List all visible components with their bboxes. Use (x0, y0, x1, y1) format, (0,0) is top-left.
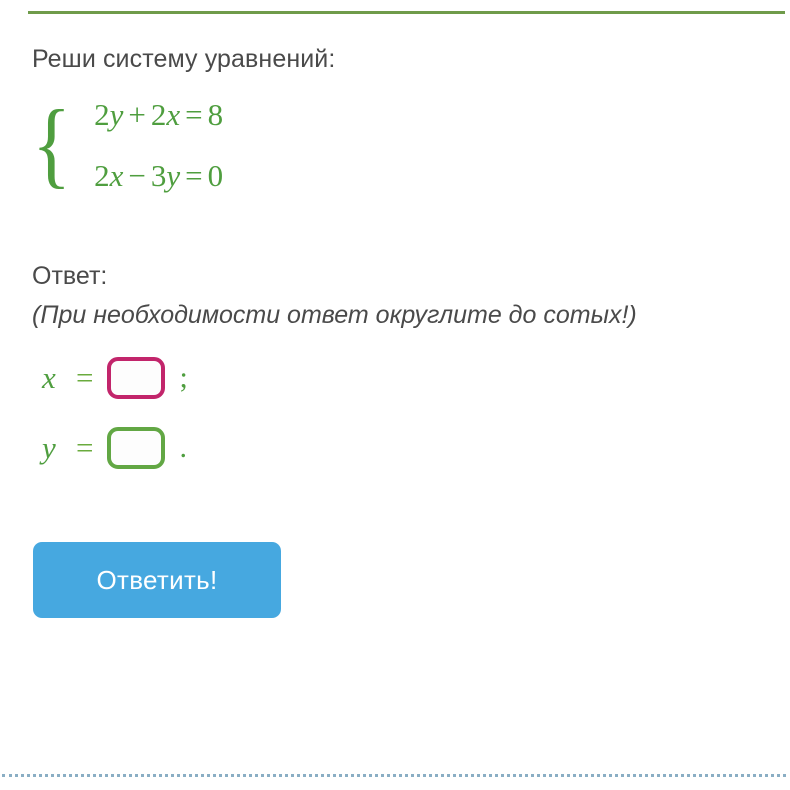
eq2-coef-1: 2 (94, 158, 110, 193)
eq1-coef-2: 2 (151, 97, 167, 132)
answer-equals-y: = (76, 430, 93, 466)
equation-system: { 2y+2x=8 2x−3y=0 (32, 85, 762, 206)
system-brace: { (32, 83, 71, 204)
answer-equals-x: = (76, 360, 93, 396)
answer-section: Ответ: (При необходимости ответ округлит… (32, 260, 762, 472)
eq2-coef-2: 3 (151, 158, 167, 193)
eq2-constant: 0 (208, 158, 224, 193)
answer-row-y: y = . (32, 424, 762, 472)
eq2-operator-minus: − (123, 158, 150, 193)
eq2-var-x: x (110, 158, 124, 193)
answer-input-x[interactable] (107, 357, 165, 399)
eq1-coef-1: 2 (94, 97, 110, 132)
answer-row-x: x = ; (32, 354, 762, 402)
answer-variable-y: y (42, 430, 68, 466)
answer-rounding-note: (При необходимости ответ округлите до со… (32, 299, 762, 333)
eq1-var-x: x (166, 97, 180, 132)
answer-variable-x: x (42, 360, 68, 396)
answer-punctuation-y: . (179, 431, 187, 465)
equation-lines: 2y+2x=8 2x−3y=0 (82, 85, 223, 206)
bottom-divider (2, 774, 786, 777)
eq1-var-y: y (110, 97, 124, 132)
exercise-content: Реши систему уравнений: { 2y+2x=8 2x−3y=… (32, 44, 762, 618)
answer-input-y[interactable] (107, 427, 165, 469)
eq1-operator-equals: = (180, 97, 207, 132)
answer-label: Ответ: (32, 260, 762, 293)
eq2-var-y: y (166, 158, 180, 193)
submit-area: Ответить! (33, 542, 762, 618)
equation-line-1: 2y+2x=8 (94, 85, 223, 145)
eq1-constant: 8 (208, 97, 224, 132)
page-title: Реши систему уравнений: (32, 44, 762, 75)
eq1-operator-plus: + (123, 97, 150, 132)
equation-line-2: 2x−3y=0 (94, 146, 223, 206)
eq2-operator-equals: = (180, 158, 207, 193)
answer-punctuation-x: ; (179, 361, 187, 395)
top-divider (28, 11, 785, 14)
submit-button[interactable]: Ответить! (33, 542, 281, 618)
